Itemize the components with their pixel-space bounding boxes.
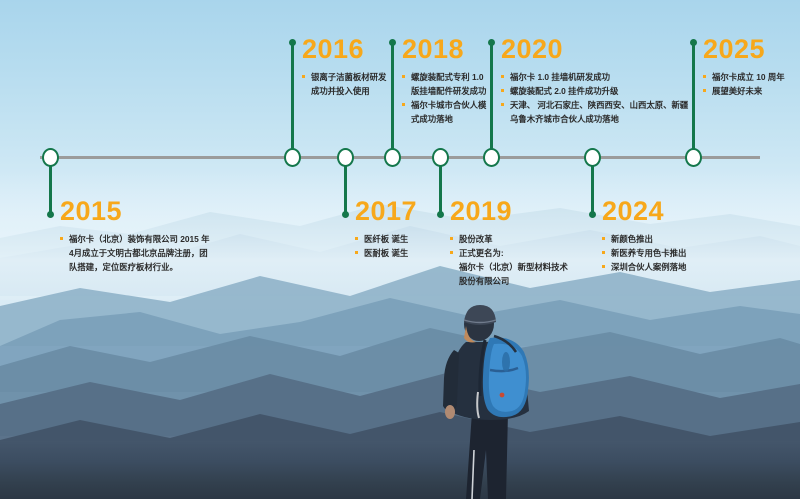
bullet-list: 福尔卡 1.0 挂墙机研发成功螺旋装配式 2.0 挂件成功升级天津、 河北石家庄… <box>501 70 688 126</box>
bullet-item: 福尔卡 1.0 挂墙机研发成功 <box>501 70 688 84</box>
bullet-item: 式成功落地 <box>402 112 486 126</box>
year-label-2025: 2025 <box>703 36 785 63</box>
stem-endpoint-dot <box>47 211 54 218</box>
timeline-node-2018[interactable] <box>384 148 401 167</box>
timeline-stem-2025 <box>692 42 695 158</box>
stem-endpoint-dot <box>289 39 296 46</box>
bullet-item: 版挂墙配件研发成功 <box>402 84 486 98</box>
bullet-item: 医纤板 诞生 <box>355 232 417 246</box>
timeline-node-2017[interactable] <box>337 148 354 167</box>
bullet-item: 福尔卡成立 10 周年 <box>703 70 785 84</box>
bullet-item: 成功并投入使用 <box>302 84 386 98</box>
bullet-item: 乌鲁木齐城市合伙人成功落地 <box>501 112 688 126</box>
timeline-infographic: 2015福尔卡（北京）装饰有限公司 2015 年4月成立于文明古都北京品牌注册，… <box>0 0 800 499</box>
timeline-entry-2016: 2016银离子洁菌板材研发成功并投入使用 <box>302 36 386 98</box>
bullet-item: 4月成立于文明古都北京品牌注册，团 <box>60 246 210 260</box>
timeline-entry-2024: 2024新颜色推出新医养专用色卡推出深圳合伙人案例落地 <box>602 198 686 274</box>
bullet-item: 银离子洁菌板材研发 <box>302 70 386 84</box>
year-label-2020: 2020 <box>501 36 688 63</box>
timeline-stem-2020 <box>490 42 493 158</box>
timeline-node-2025[interactable] <box>685 148 702 167</box>
bullet-item: 新颜色推出 <box>602 232 686 246</box>
year-label-2019: 2019 <box>450 198 568 225</box>
bullet-item: 新医养专用色卡推出 <box>602 246 686 260</box>
timeline-entry-2015: 2015福尔卡（北京）装饰有限公司 2015 年4月成立于文明古都北京品牌注册，… <box>60 198 210 274</box>
bullet-list: 股份改革正式更名为:福尔卡（北京）新型材料技术股份有限公司 <box>450 232 568 288</box>
timeline-entry-2020: 2020福尔卡 1.0 挂墙机研发成功螺旋装配式 2.0 挂件成功升级天津、 河… <box>501 36 688 126</box>
bullet-item: 螺旋装配式专利 1.0 <box>402 70 486 84</box>
year-label-2017: 2017 <box>355 198 417 225</box>
foreground-terrain <box>0 441 800 499</box>
bullet-list: 新颜色推出新医养专用色卡推出深圳合伙人案例落地 <box>602 232 686 274</box>
timeline-node-2024[interactable] <box>584 148 601 167</box>
bullet-list: 医纤板 诞生医耐板 诞生 <box>355 232 417 260</box>
stem-endpoint-dot <box>589 211 596 218</box>
timeline-stem-2018 <box>391 42 394 158</box>
bullet-list: 螺旋装配式专利 1.0版挂墙配件研发成功福尔卡城市合伙人模式成功落地 <box>402 70 486 126</box>
timeline-node-2015[interactable] <box>42 148 59 167</box>
bullet-item: 医耐板 诞生 <box>355 246 417 260</box>
year-label-2024: 2024 <box>602 198 686 225</box>
timeline-entry-2025: 2025福尔卡成立 10 周年展望美好未来 <box>703 36 785 98</box>
timeline-node-2020[interactable] <box>483 148 500 167</box>
bullet-list: 银离子洁菌板材研发成功并投入使用 <box>302 70 386 98</box>
year-label-2015: 2015 <box>60 198 210 225</box>
bullet-item: 正式更名为: <box>450 246 568 260</box>
timeline-entry-2019: 2019股份改革正式更名为:福尔卡（北京）新型材料技术股份有限公司 <box>450 198 568 288</box>
bullet-item: 股份有限公司 <box>450 274 568 288</box>
stem-endpoint-dot <box>342 211 349 218</box>
bullet-item: 股份改革 <box>450 232 568 246</box>
stem-endpoint-dot <box>488 39 495 46</box>
timeline-stem-2016 <box>291 42 294 158</box>
timeline-entry-2018: 2018螺旋装配式专利 1.0版挂墙配件研发成功福尔卡城市合伙人模式成功落地 <box>402 36 486 126</box>
timeline-entry-2017: 2017医纤板 诞生医耐板 诞生 <box>355 198 417 260</box>
bullet-item: 深圳合伙人案例落地 <box>602 260 686 274</box>
timeline-node-2016[interactable] <box>284 148 301 167</box>
bullet-item: 福尔卡城市合伙人模 <box>402 98 486 112</box>
timeline-node-2019[interactable] <box>432 148 449 167</box>
bullet-item: 福尔卡（北京）装饰有限公司 2015 年 <box>60 232 210 246</box>
bullet-item: 螺旋装配式 2.0 挂件成功升级 <box>501 84 688 98</box>
bullet-item: 队搭建，定位医疗板材行业。 <box>60 260 210 274</box>
bullet-list: 福尔卡成立 10 周年展望美好未来 <box>703 70 785 98</box>
bullet-item: 福尔卡（北京）新型材料技术 <box>450 260 568 274</box>
stem-endpoint-dot <box>690 39 697 46</box>
hiker-figure <box>430 300 580 499</box>
bullet-list: 福尔卡（北京）装饰有限公司 2015 年4月成立于文明古都北京品牌注册，团队搭建… <box>60 232 210 274</box>
bullet-item: 展望美好未来 <box>703 84 785 98</box>
bullet-item: 天津、 河北石家庄、陕西西安、山西太原、新疆 <box>501 98 688 112</box>
stem-endpoint-dot <box>437 211 444 218</box>
year-label-2016: 2016 <box>302 36 386 63</box>
stem-endpoint-dot <box>389 39 396 46</box>
year-label-2018: 2018 <box>402 36 486 63</box>
